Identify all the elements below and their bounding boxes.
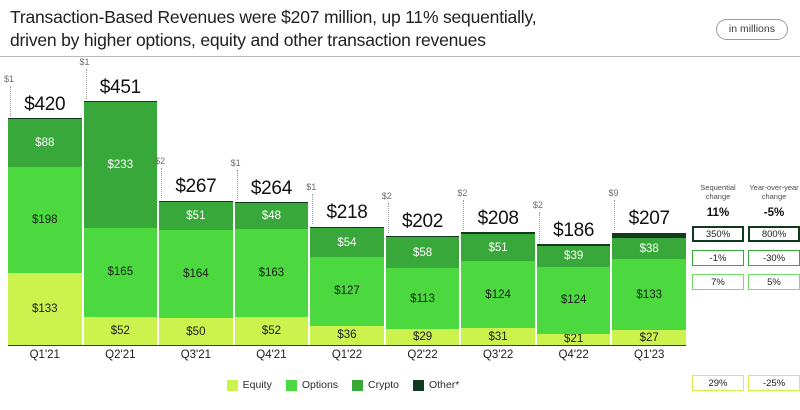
segment-options: $163: [235, 229, 309, 317]
segment-value-label: $124: [561, 294, 587, 306]
x-tick-label: Q1'22: [310, 349, 384, 361]
segment-equity: $52: [84, 317, 158, 345]
callout-leader-line: [237, 170, 238, 200]
segment-other: [235, 202, 309, 204]
panel-total-yoy: -5%: [748, 207, 800, 219]
segment-equity: $29: [386, 329, 460, 345]
other-callout-label: $2: [457, 188, 467, 198]
segment-value-label: $58: [413, 247, 432, 259]
bar-q421: $52$163$48: [235, 203, 309, 345]
headline-line-1: Transaction-Based Revenues were $207 mil…: [10, 7, 536, 27]
segment-other: [537, 244, 611, 246]
bar-q122: $36$127$54: [310, 227, 384, 345]
bar-total-label: $207: [612, 208, 686, 230]
panel-sequential-options-value: 7%: [692, 274, 744, 290]
segment-crypto: $48: [235, 203, 309, 229]
segment-value-label: $36: [337, 329, 356, 341]
headline-line-2: driven by higher options, equity and oth…: [10, 29, 660, 52]
panel-column-header-line1: Sequential: [692, 183, 744, 192]
legend-item-crypto[interactable]: Crypto: [352, 379, 399, 391]
panel-column-header-line2: change: [748, 192, 800, 201]
segment-value-label: $113: [410, 293, 435, 305]
segment-value-label: $31: [489, 331, 508, 343]
segment-crypto: $51: [461, 234, 535, 261]
legend-label: Options: [302, 379, 338, 391]
x-tick-label: Q3'22: [461, 349, 535, 361]
segment-other: [461, 232, 535, 234]
segment-equity: $27: [612, 330, 686, 345]
segment-value-label: $21: [564, 334, 583, 345]
bar-total-label: $208: [461, 208, 535, 230]
segment-other: [386, 236, 460, 238]
legend-label: Other*: [429, 379, 459, 391]
segment-value-label: $54: [337, 237, 356, 249]
change-summary-panel: Sequentialchange11%Year-over-yearchange-…: [690, 57, 800, 410]
segment-options: $113: [386, 268, 460, 329]
x-tick-label: Q3'21: [159, 349, 233, 361]
segment-options: $127: [310, 257, 384, 325]
bar-total-label: $202: [386, 211, 460, 233]
other-callout-label: $2: [382, 191, 392, 201]
segment-crypto: $51: [159, 202, 233, 229]
segment-value-label: $88: [35, 137, 54, 149]
segment-crypto: $58: [386, 237, 460, 268]
segment-value-label: $48: [262, 210, 281, 222]
legend-item-equity[interactable]: Equity: [227, 379, 272, 391]
x-axis-line: [8, 345, 686, 346]
legend-swatch-other-icon: [413, 380, 424, 391]
segment-value-label: $133: [636, 289, 662, 301]
other-callout-label: $2: [533, 200, 543, 210]
segment-options: $164: [159, 230, 233, 318]
legend-label: Equity: [243, 379, 272, 391]
x-tick-label: Q4'21: [235, 349, 309, 361]
segment-options: $165: [84, 228, 158, 317]
panel-column-header-line1: Year-over-year: [748, 183, 800, 192]
callout-leader-line: [312, 194, 313, 224]
x-tick-label: Q1'23: [612, 349, 686, 361]
legend-swatch-equity-icon: [227, 380, 238, 391]
segment-value-label: $233: [108, 159, 134, 171]
x-tick-label: Q1'21: [8, 349, 82, 361]
callout-leader-line: [10, 86, 11, 116]
segment-options: $198: [8, 167, 82, 274]
bar-q222: $29$113$58: [386, 236, 460, 345]
segment-other: [310, 227, 384, 229]
bar-total-label: $264: [235, 178, 309, 200]
segment-crypto: $39: [537, 246, 611, 267]
other-callout-label: $1: [4, 74, 14, 84]
segment-other: [612, 233, 686, 238]
panel-total-sequential: 11%: [692, 207, 744, 219]
other-callout-label: $9: [608, 188, 618, 198]
page-title: Transaction-Based Revenues were $207 mil…: [10, 6, 660, 52]
segment-value-label: $163: [259, 267, 285, 279]
chart-legend: EquityOptionsCryptoOther*: [0, 379, 686, 391]
legend-label: Crypto: [368, 379, 399, 391]
units-badge: in millions: [716, 19, 788, 40]
segment-equity: $50: [159, 318, 233, 345]
header: Transaction-Based Revenues were $207 mil…: [0, 0, 800, 57]
segment-equity: $21: [537, 334, 611, 345]
bar-total-label: $218: [310, 202, 384, 224]
legend-item-options[interactable]: Options: [286, 379, 338, 391]
segment-options: $124: [461, 261, 535, 328]
callout-leader-line: [86, 69, 87, 99]
x-tick-label: Q2'21: [84, 349, 158, 361]
bar-q123: $27$133$38: [612, 233, 686, 345]
callout-leader-line: [614, 200, 615, 230]
segment-equity: $36: [310, 326, 384, 345]
segment-value-label: $127: [334, 285, 360, 297]
segment-value-label: $198: [32, 214, 58, 226]
bar-total-label: $420: [8, 94, 82, 116]
segment-equity: $133: [8, 273, 82, 345]
segment-value-label: $51: [186, 210, 205, 222]
panel-yoy-other-value: 800%: [748, 226, 800, 242]
segment-value-label: $133: [32, 303, 58, 315]
panel-sequential-crypto-value: -1%: [692, 250, 744, 266]
legend-swatch-crypto-icon: [352, 380, 363, 391]
segment-value-label: $50: [186, 326, 205, 338]
panel-sequential-other-value: 350%: [692, 226, 744, 242]
segment-value-label: $38: [640, 243, 659, 255]
bar-q422: $21$124$39: [537, 245, 611, 345]
segment-options: $124: [537, 267, 611, 334]
segment-crypto: $88: [8, 119, 82, 166]
other-callout-label: $1: [231, 158, 241, 168]
bar-q221: $52$165$233: [84, 102, 158, 345]
legend-item-other[interactable]: Other*: [413, 379, 459, 391]
segment-value-label: $52: [262, 325, 281, 337]
segment-equity: $31: [461, 328, 535, 345]
segment-equity: $52: [235, 317, 309, 345]
panel-column-header-line2: change: [692, 192, 744, 201]
segment-value-label: $165: [108, 266, 134, 278]
x-tick-label: Q4'22: [537, 349, 611, 361]
bar-q322: $31$124$51: [461, 233, 535, 345]
bar-q321: $50$164$51: [159, 201, 233, 345]
segment-crypto: $38: [612, 238, 686, 258]
callout-leader-line: [539, 212, 540, 242]
plot-area: $133$198$88$52$165$233$50$164$51$52$163$…: [8, 57, 686, 345]
other-callout-label: $1: [80, 57, 90, 67]
callout-leader-line: [463, 200, 464, 230]
legend-swatch-options-icon: [286, 380, 297, 391]
bar-total-label: $451: [84, 77, 158, 99]
segment-value-label: $29: [413, 331, 432, 343]
segment-value-label: $124: [485, 289, 511, 301]
other-callout-label: $2: [155, 156, 165, 166]
bar-total-label: $267: [159, 176, 233, 198]
segment-crypto: $54: [310, 228, 384, 257]
callout-leader-line: [161, 168, 162, 198]
segment-value-label: $39: [564, 250, 583, 262]
panel-yoy-crypto-value: -30%: [748, 250, 800, 266]
segment-crypto: $233: [84, 102, 158, 228]
panel-yoy-equity-value: -25%: [748, 375, 800, 391]
segment-options: $133: [612, 259, 686, 331]
panel-sequential-equity-value: 29%: [692, 375, 744, 391]
segment-value-label: $164: [183, 268, 209, 280]
panel-column-header: Sequentialchange: [692, 183, 744, 201]
segment-other: [8, 118, 82, 120]
segment-value-label: $51: [489, 242, 508, 254]
other-callout-label: $1: [306, 182, 316, 192]
segment-other: [84, 101, 158, 103]
callout-leader-line: [388, 203, 389, 233]
segment-value-label: $52: [111, 325, 130, 337]
panel-yoy-options-value: 5%: [748, 274, 800, 290]
segment-value-label: $27: [640, 332, 659, 344]
stacked-bar-chart: $133$198$88$52$165$233$50$164$51$52$163$…: [0, 57, 800, 410]
bar-q121: $133$198$88: [8, 119, 82, 345]
x-tick-label: Q2'22: [386, 349, 460, 361]
segment-other: [159, 201, 233, 203]
bar-total-label: $186: [537, 220, 611, 242]
panel-column-header: Year-over-yearchange: [748, 183, 800, 201]
